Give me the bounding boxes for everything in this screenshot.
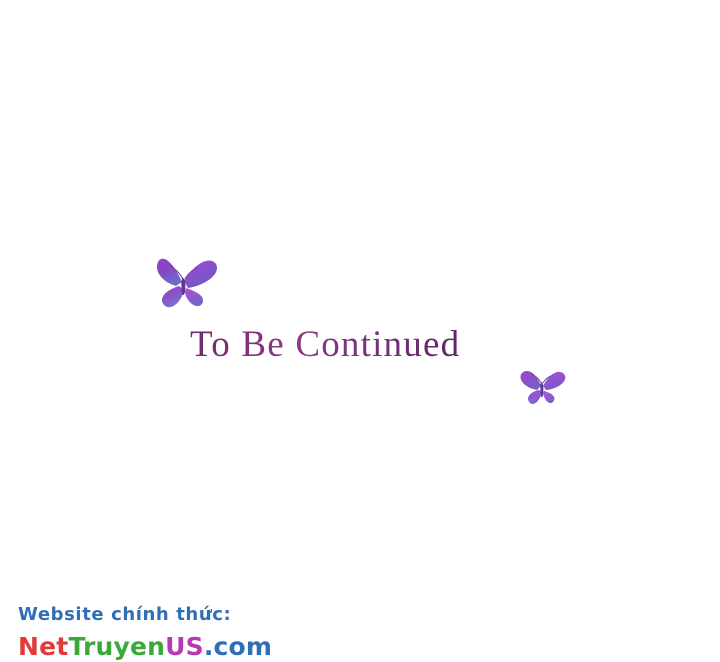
to-be-continued-text: To Be Continued [190, 326, 460, 365]
brand-part-com: .com [204, 632, 272, 661]
footer-watermark: Website chính thức: NetTruyenUS.com [18, 604, 702, 661]
site-brand[interactable]: NetTruyenUS.com [18, 632, 702, 661]
comic-page: To Be Continued Website ch [0, 0, 720, 662]
brand-part-truyen: Truyen [68, 632, 165, 661]
butterfly-icon-small [514, 366, 572, 408]
brand-part-us: US [165, 632, 204, 661]
butterfly-icon-large [152, 252, 228, 314]
footer-label: Website chính thức: [18, 604, 702, 625]
brand-part-net: Net [18, 632, 68, 661]
